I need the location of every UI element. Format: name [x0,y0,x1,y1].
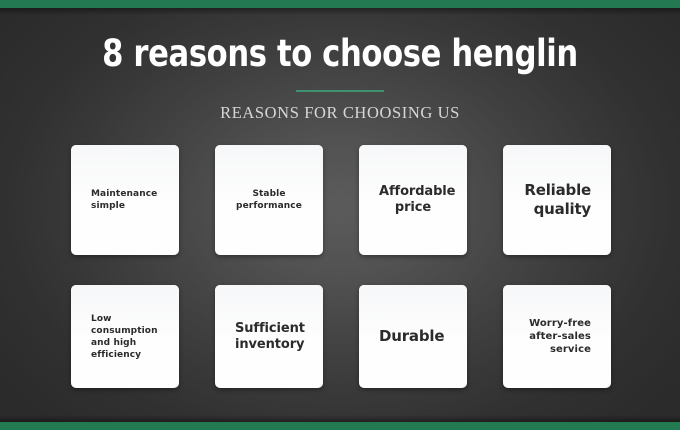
slide-header: 8 reasons to choose henglin REASONS FOR … [0,0,680,123]
slide-canvas: 8 reasons to choose henglin REASONS FOR … [0,0,680,430]
reason-card-label: Sufficient inventory [235,321,303,353]
reason-card-label: Reliable quality [523,181,591,219]
reason-card-label: Maintenance simple [91,188,159,212]
page-title: 8 reasons to choose henglin [27,0,653,76]
reason-card-label: Worry-free after-sales service [523,317,591,356]
reason-card[interactable]: Stable performance [215,145,323,255]
reason-card[interactable]: Sufficient inventory [215,285,323,388]
reason-card[interactable]: Maintenance simple [71,145,179,255]
reason-card[interactable]: Low consumption and high efficiency [71,285,179,388]
reason-card-label: Durable [379,327,447,346]
reason-card[interactable]: Durable [359,285,467,388]
reasons-grid: Maintenance simple Stable performance Af… [71,145,610,388]
reason-card[interactable]: Worry-free after-sales service [503,285,611,388]
bottom-accent-bar [0,422,680,430]
reason-card-label: Low consumption and high efficiency [91,313,159,361]
reason-card[interactable]: Affordable price [359,145,467,255]
bottom-bar-shadow [0,415,680,422]
reason-card[interactable]: Reliable quality [503,145,611,255]
page-subtitle: REASONS FOR CHOOSING US [0,103,680,123]
reason-card-label: Stable performance [235,188,303,212]
title-divider [296,90,384,92]
reason-card-label: Affordable price [379,184,447,216]
